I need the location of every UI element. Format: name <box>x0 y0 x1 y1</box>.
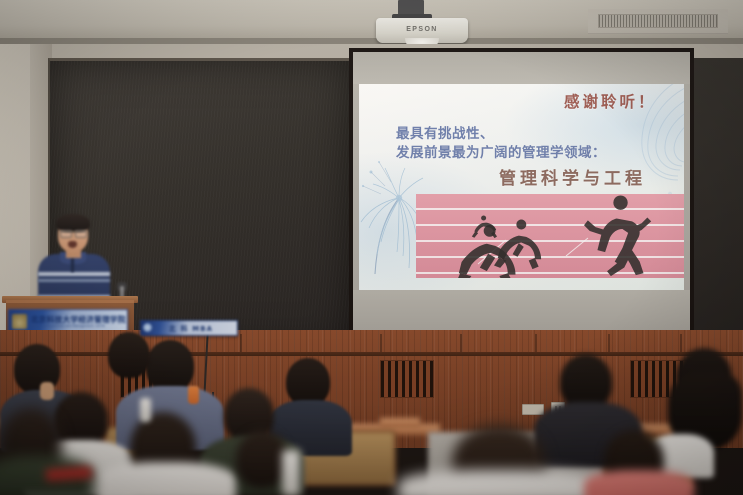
speaker-placket <box>71 256 74 272</box>
slide-heading-line-1: 最具有挑战性、 <box>396 122 494 142</box>
lecture-hall-photo: EPSON <box>0 0 743 495</box>
water-bottle <box>282 450 300 495</box>
wood-panel-seam <box>608 334 610 352</box>
wood-panel-seam <box>680 334 682 352</box>
wood-panel-seam <box>240 334 242 352</box>
projector-brand-label: EPSON <box>396 26 448 33</box>
speaker-shirt-stripe <box>38 272 110 276</box>
audience-head <box>108 332 150 378</box>
audience-head <box>286 358 330 406</box>
wood-panel-seam <box>460 334 462 352</box>
chalkboard-right-section <box>693 58 743 348</box>
wood-panel-seam <box>535 334 537 352</box>
slide-topic-text: 管理科学与工程 <box>499 164 646 189</box>
audience-torso <box>584 470 694 495</box>
ceiling-vent-grille <box>598 14 718 28</box>
speaker-glasses-bridge <box>60 231 86 237</box>
slide-thanks-text: 感谢聆听！ <box>564 90 657 112</box>
audience-torso <box>398 470 608 495</box>
audience-head <box>146 340 194 392</box>
projection-screen: 感谢聆听！ 最具有挑战性、 发展前景最为广阔的管理学领域： 管理科学与工程 <box>353 52 690 338</box>
wood-panel-seam <box>380 334 382 352</box>
desk-surface <box>380 418 420 428</box>
audience-torso <box>96 462 236 495</box>
radiator-grille <box>380 360 434 398</box>
slide-track-graphic <box>416 194 684 278</box>
presentation-slide: 感谢聆听！ 最具有挑战性、 发展前景最为广阔的管理学领域： 管理科学与工程 <box>359 84 684 290</box>
audience-hand <box>40 382 54 400</box>
university-logo-icon <box>12 314 27 329</box>
bench-sign-text: 北 科 MBA <box>169 323 213 333</box>
bench-mba-sign: 北 科 MBA <box>140 320 238 336</box>
runner-sprinting <box>584 195 651 276</box>
speaker-shirt-stripe <box>38 279 110 282</box>
runner-silhouettes <box>416 194 684 278</box>
speaker-mouth <box>68 241 77 248</box>
audience-head <box>236 430 288 488</box>
water-bottle <box>140 398 151 422</box>
podium-banner-english-text: School of Economics and Management, USTB <box>31 324 105 328</box>
drink-bottle <box>188 386 199 404</box>
slide-heading-line-2: 发展前景最为广阔的管理学领域： <box>396 141 606 161</box>
mba-logo-icon <box>143 323 152 332</box>
screen-top-blank-band <box>353 52 690 84</box>
